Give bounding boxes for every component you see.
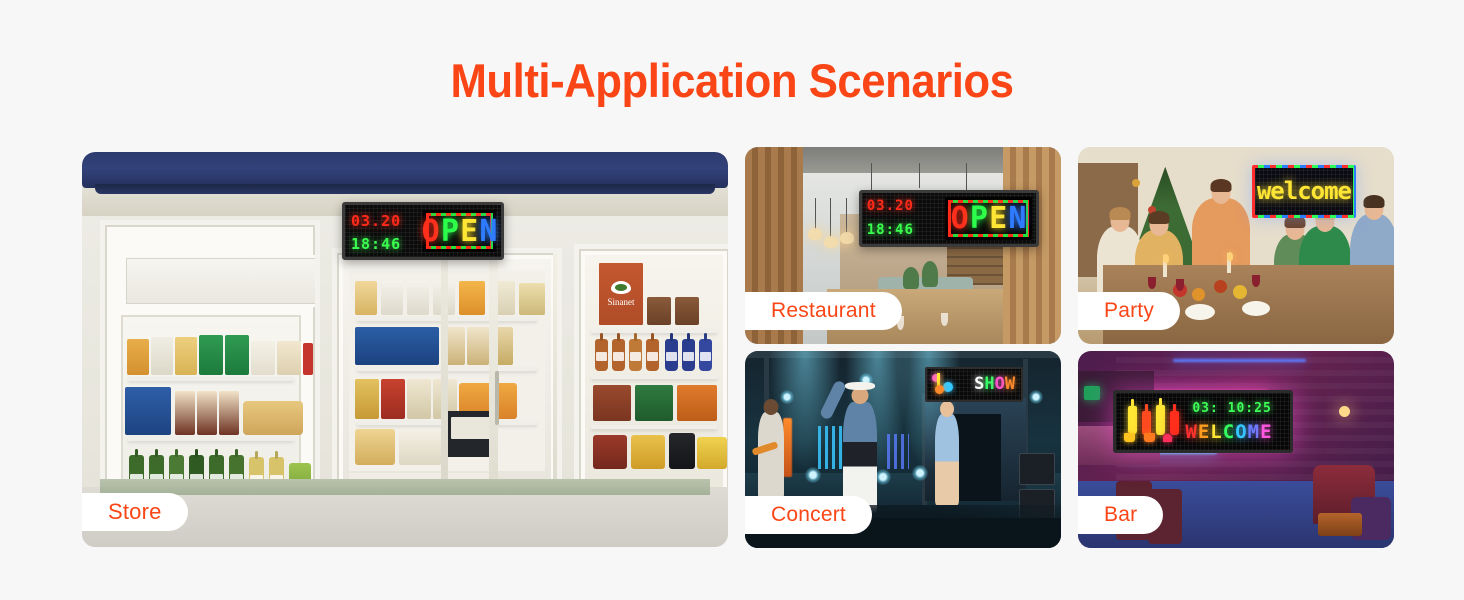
pendant-lamp — [808, 228, 822, 240]
restaurant-plant — [903, 267, 919, 289]
stage-orange-light — [783, 418, 792, 477]
scenario-card-party[interactable]: welcome Party — [1078, 147, 1394, 344]
scenario-badge-store: Store — [82, 493, 188, 531]
scenarios-page: Multi-Application Scenarios — [0, 0, 1464, 600]
bar-table — [1318, 513, 1362, 537]
scenario-badge-label: Party — [1104, 299, 1154, 323]
page-title: Multi-Application Scenarios — [51, 52, 1413, 110]
store-scene: Sinanet — [82, 152, 728, 547]
female-singer — [935, 414, 959, 505]
restaurant-ceiling — [803, 147, 1003, 173]
guitarist — [758, 412, 784, 499]
sinanet-banner: Sinanet — [599, 263, 643, 325]
scenario-card-concert[interactable]: SHOW Concert — [745, 351, 1061, 548]
concert-led-word: SHOW — [927, 369, 1021, 400]
scenario-badge-label: Store — [108, 499, 162, 525]
bar-led-word: WELCOME — [1185, 421, 1272, 443]
scenario-badge-concert: Concert — [745, 496, 872, 534]
scenario-badge-label: Restaurant — [771, 299, 876, 323]
bar-green-sign — [1084, 386, 1100, 400]
scenario-badge-bar: Bar — [1078, 496, 1163, 534]
singer-hat — [845, 382, 875, 390]
led-open-panel: OPEN — [945, 197, 1032, 240]
led-open-panel: OPEN — [423, 210, 496, 252]
scenario-badge-restaurant: Restaurant — [745, 292, 902, 330]
bar-led-time: 03: 10:25 — [1192, 401, 1271, 416]
led-time-text: 18:46 — [351, 235, 401, 253]
concert-led-sign: SHOW — [925, 367, 1023, 402]
stage-amplifier — [1019, 453, 1055, 485]
store-awning — [82, 152, 728, 188]
led-welcome-text: welcome — [1255, 168, 1353, 215]
restaurant-led-sign: 03.20 18:46 OPEN — [859, 190, 1039, 247]
led-date-text: 03.20 — [867, 198, 914, 214]
store-led-sign: 03.20 18:46 OPEN — [342, 202, 504, 260]
led-open-word: OPEN — [426, 213, 493, 249]
wall-sconce — [1339, 406, 1350, 417]
led-open-word: OPEN — [948, 200, 1029, 237]
scenario-badge-label: Bar — [1104, 503, 1137, 527]
pendant-lamp — [824, 236, 838, 248]
store-transom-left — [123, 255, 320, 307]
party-led-sign: welcome — [1252, 165, 1356, 218]
scenario-card-store[interactable]: Sinanet — [82, 152, 728, 547]
bar-led-sign: 03: 10:25 WELCOME — [1113, 390, 1293, 453]
scenario-badge-party: Party — [1078, 292, 1180, 330]
pendant-lamp — [840, 232, 854, 244]
store-kickplate — [100, 479, 710, 495]
led-date-text: 03.20 — [351, 212, 401, 230]
scenario-card-restaurant[interactable]: 03.20 18:46 OPEN Restaurant — [745, 147, 1061, 344]
sinanet-brand-label: Sinanet — [608, 297, 635, 307]
restaurant-plant — [922, 261, 938, 287]
led-time-text: 18:46 — [867, 222, 914, 238]
scenario-card-bar[interactable]: 03: 10:25 WELCOME Bar — [1078, 351, 1394, 548]
scenario-badge-label: Concert — [771, 503, 846, 527]
